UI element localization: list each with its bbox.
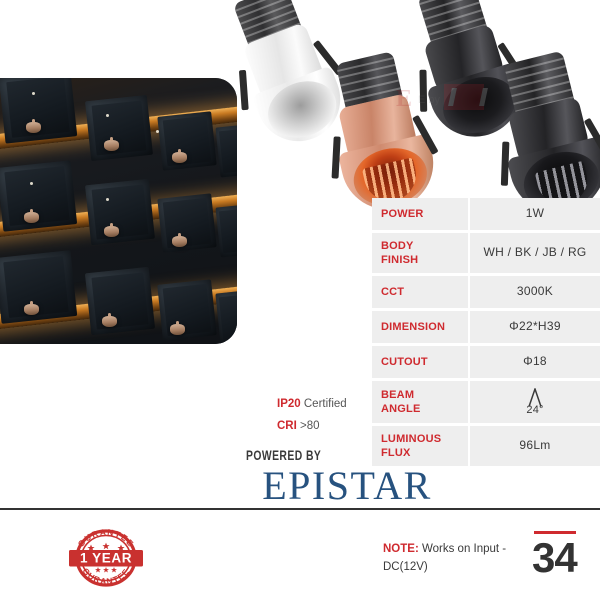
spec-value: Φ18 [470, 346, 600, 378]
table-row: BEAM ANGLE 24° [372, 381, 600, 423]
spec-value: 96Lm [470, 426, 600, 466]
display-niche [215, 291, 237, 344]
footer-note: NOTE: Works on Input - DC(12V) [383, 541, 533, 577]
downlight-spot [156, 130, 159, 133]
decor-teapot [104, 226, 119, 237]
catalog-page: E E by [0, 0, 600, 600]
warranty-stamp-icon: GURANTEE GURANTEE 1 YEAR [58, 527, 154, 589]
display-niche [215, 205, 237, 258]
decor-teapot [172, 152, 187, 163]
display-niche [0, 78, 77, 144]
decor-teapot [24, 212, 39, 223]
downlight-spot [30, 182, 33, 185]
brand-watermark: E E by [396, 82, 488, 118]
spring-clip-left [239, 70, 249, 110]
decor-teapot [24, 304, 39, 315]
decor-teapot [172, 236, 187, 247]
spec-label: DIMENSION [372, 311, 468, 343]
spring-clip-left [332, 136, 341, 178]
specification-table: POWER 1W BODY FINISH WH / BK / JB / RG C… [372, 198, 600, 469]
decor-teapot [170, 324, 185, 335]
spring-clip-left [501, 142, 510, 186]
display-niche [157, 193, 216, 252]
epistar-logo-text: EPISTAR [232, 466, 462, 506]
display-niche [85, 95, 153, 161]
footer-divider [0, 508, 600, 510]
display-niche [215, 125, 237, 178]
downlight-spot [32, 92, 35, 95]
product-photo-group: E E by [228, 0, 600, 204]
spec-label: CUTOUT [372, 346, 468, 378]
application-photo [0, 78, 237, 344]
page-number: 34 [532, 537, 600, 579]
spec-value: WH / BK / JB / RG [470, 233, 600, 273]
display-niche [157, 279, 217, 340]
spec-label: BODY FINISH [372, 233, 468, 273]
downlight-spot [106, 114, 109, 117]
watermark-by-label: E by [418, 94, 440, 106]
display-niche [0, 250, 77, 324]
table-row: CCT 3000K [372, 276, 600, 308]
powered-by-label: POWERED BY [246, 448, 321, 462]
certification-ip20: IP20 Certified [277, 394, 397, 416]
note-label: NOTE: [383, 543, 419, 555]
page-number-block: 34 [532, 531, 600, 579]
display-niche [85, 179, 155, 245]
display-niche [0, 160, 77, 231]
powered-by-block: POWERED BY EPISTAR [232, 447, 462, 506]
certification-list: IP20 Certified CRI >80 [277, 394, 397, 438]
cert-code: IP20 [277, 398, 301, 410]
cert-text: >80 [297, 420, 320, 432]
watermark-mark-icon [444, 84, 484, 110]
table-row: CUTOUT Φ18 [372, 346, 600, 378]
downlight-spot [106, 198, 109, 201]
decor-teapot [102, 316, 117, 327]
cert-text: Certified [301, 398, 347, 410]
spec-value: 3000K [470, 276, 600, 308]
certification-cri: CRI >80 [277, 416, 397, 438]
spec-value: Φ22*H39 [470, 311, 600, 343]
table-row: DIMENSION Φ22*H39 [372, 311, 600, 343]
beam-angle-degrees: 24° [526, 404, 543, 416]
decor-teapot [26, 122, 41, 133]
table-row: POWER 1W [372, 198, 600, 230]
table-row: BODY FINISH WH / BK / JB / RG [372, 233, 600, 273]
warranty-center-text: 1 YEAR [80, 551, 132, 566]
display-niche [85, 267, 155, 335]
decor-teapot [104, 140, 119, 151]
spec-label: POWER [372, 198, 468, 230]
cert-code: CRI [277, 420, 297, 432]
photo-scene [0, 78, 237, 344]
watermark-letter: E [396, 86, 412, 113]
spec-value-beam: 24° [470, 381, 600, 423]
display-niche [157, 111, 216, 170]
warranty-badge: GURANTEE GURANTEE 1 YEAR [58, 527, 154, 589]
spec-value: 1W [470, 198, 600, 230]
spec-label: CCT [372, 276, 468, 308]
